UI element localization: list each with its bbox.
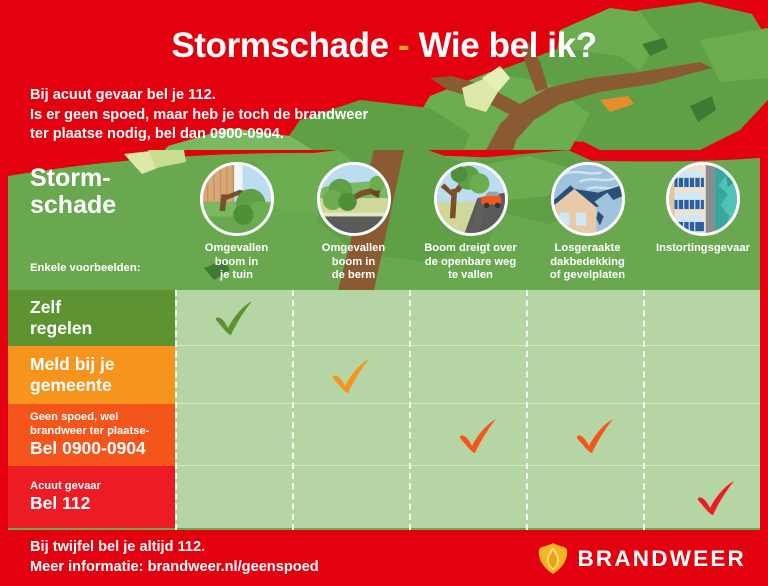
column-caption-5: Instortingsgevaar (646, 242, 760, 256)
cracked-building-icon (666, 162, 740, 236)
column-caption-4: Losgeraakte dakbedekking of gevelplaten (529, 242, 646, 283)
row-label-line-1: Bel 112 (30, 493, 175, 514)
fallen-tree-verge-icon (317, 162, 391, 236)
brandweer-logo: BRANDWEER (538, 542, 746, 575)
column-header-3: Boom dreigt over de openbare weg te vall… (412, 162, 529, 283)
column-header-5: Instortingsgevaar (646, 162, 760, 256)
panel-heading-line-1: Storm- (30, 165, 116, 192)
check-zelf-regelen-col1 (212, 298, 256, 338)
panel-heading: Storm- schade (30, 165, 116, 219)
column-header-4: Losgeraakte dakbedekking of gevelplaten (529, 162, 646, 283)
column-caption-1: Omgevallen boom in je tuin (178, 242, 295, 283)
column-divider-5 (643, 290, 645, 530)
column-caption-2: Omgevallen boom in de berm (295, 242, 412, 283)
check-meld-gemeente-col2 (329, 356, 373, 396)
footer-line-2: Meer informatie: brandweer.nl/geenspoed (30, 558, 319, 578)
title-part-2: Wie bel ik? (419, 26, 597, 65)
column-divider-1 (175, 290, 177, 530)
row-label-zelf-regelen: Zelf regelen (8, 290, 175, 346)
check-geen-spoed-col4 (573, 416, 617, 456)
column-divider-4 (526, 290, 528, 530)
examples-label: Enkele voorbeelden: (30, 262, 141, 274)
header-banner: Stormschade - Wie bel ik? Bij acuut geva… (0, 0, 768, 168)
footer-bar: Bij twijfel bel je altijd 112. Meer info… (0, 530, 768, 586)
panel-heading-line-2: schade (30, 192, 116, 219)
row-cells-acuut-gevaar (175, 466, 760, 528)
footer-line-1: Bij twijfel bel je altijd 112. (30, 538, 319, 558)
decision-table: Zelf regelen Meld bij je gemeente Geen s… (8, 290, 760, 530)
frame-left-border (0, 150, 8, 532)
check-acuut-gevaar-col5 (694, 478, 738, 518)
title-part-1: Stormschade (171, 26, 388, 65)
row-label-line-2: regelen (30, 318, 175, 339)
column-header-1: Omgevallen boom in je tuin (178, 162, 295, 283)
page-title: Stormschade - Wie bel ik? (0, 26, 768, 66)
row-label-geen-spoed: Geen spoed, wel brandweer ter plaatse- B… (8, 404, 175, 466)
title-dash: - (398, 26, 409, 65)
row-label-line-1: Bel 0900-0904 (30, 438, 175, 459)
stormschade-panel: Storm- schade Enkele voorbeelden: (8, 150, 760, 530)
footer-text: Bij twijfel bel je altijd 112. Meer info… (30, 538, 319, 577)
row-cells-meld-gemeente (175, 346, 760, 404)
damaged-roof-icon (551, 162, 625, 236)
row-label-line-2: gemeente (30, 375, 175, 396)
column-divider-2 (292, 290, 294, 530)
row-label-small-1: Geen spoed, wel (30, 411, 175, 425)
fallen-tree-garden-icon (200, 162, 274, 236)
row-label-small-1: Acuut gevaar (30, 480, 175, 494)
row-cells-zelf-regelen (175, 290, 760, 346)
column-divider-3 (409, 290, 411, 530)
row-label-line-1: Meld bij je (30, 354, 175, 375)
row-label-meld-gemeente: Meld bij je gemeente (8, 346, 175, 404)
intro-line-3: ter plaatse nodig, bel dan 0900-0904. (30, 125, 368, 145)
column-header-2: Omgevallen boom in de berm (295, 162, 412, 283)
intro-line-2: Is er geen spoed, maar heb je toch de br… (30, 106, 368, 126)
intro-text: Bij acuut gevaar bel je 112. Is er geen … (30, 86, 368, 145)
row-label-small-2: brandweer ter plaatse- (30, 425, 175, 439)
leaning-tree-road-icon (434, 162, 508, 236)
row-label-acuut-gevaar: Acuut gevaar Bel 112 (8, 466, 175, 528)
frame-right-border (760, 150, 768, 532)
intro-line-1: Bij acuut gevaar bel je 112. (30, 86, 368, 106)
row-label-line-1: Zelf (30, 297, 175, 318)
column-caption-3: Boom dreigt over de openbare weg te vall… (412, 242, 529, 283)
check-geen-spoed-col3 (456, 416, 500, 456)
infographic-poster: Stormschade - Wie bel ik? Bij acuut geva… (0, 0, 768, 586)
brandweer-logo-text: BRANDWEER (577, 546, 746, 572)
brandweer-flame-shield-icon (538, 542, 568, 575)
